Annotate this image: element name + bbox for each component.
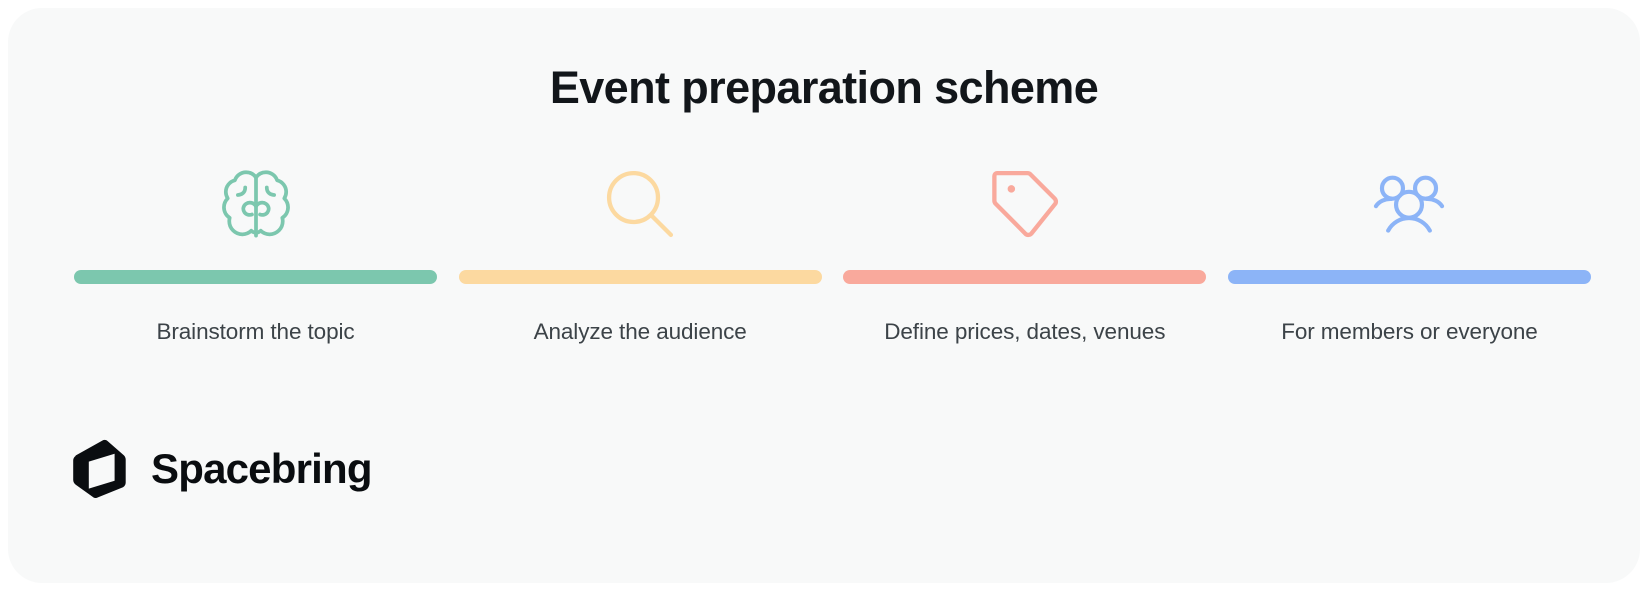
step-label-analyze: Analyze the audience	[534, 319, 747, 345]
step-bar-brainstorm	[74, 270, 437, 284]
infographic-card: Event preparation scheme Brainstorm the …	[8, 8, 1640, 583]
step-bar-analyze	[459, 270, 822, 284]
step-item-members: For members or everyone	[1228, 158, 1591, 345]
step-bar-members	[1228, 270, 1591, 284]
step-item-define-prices: Define prices, dates, venues	[843, 158, 1206, 345]
step-item-brainstorm: Brainstorm the topic	[74, 158, 437, 345]
brain-icon	[210, 158, 302, 250]
price-tag-icon	[979, 158, 1071, 250]
step-label-brainstorm: Brainstorm the topic	[156, 319, 354, 345]
spacebring-cube-logo	[72, 438, 128, 500]
step-item-analyze: Analyze the audience	[459, 158, 822, 345]
magnifier-icon	[594, 158, 686, 250]
brand-row: Spacebring	[72, 438, 372, 500]
page-title: Event preparation scheme	[8, 62, 1640, 114]
brand-name: Spacebring	[151, 445, 372, 493]
people-group-icon	[1363, 158, 1455, 250]
step-bar-define-prices	[843, 270, 1206, 284]
step-label-define-prices: Define prices, dates, venues	[884, 319, 1165, 345]
steps-row: Brainstorm the topic Analyze the audienc…	[74, 158, 1591, 345]
step-label-members: For members or everyone	[1281, 319, 1538, 345]
